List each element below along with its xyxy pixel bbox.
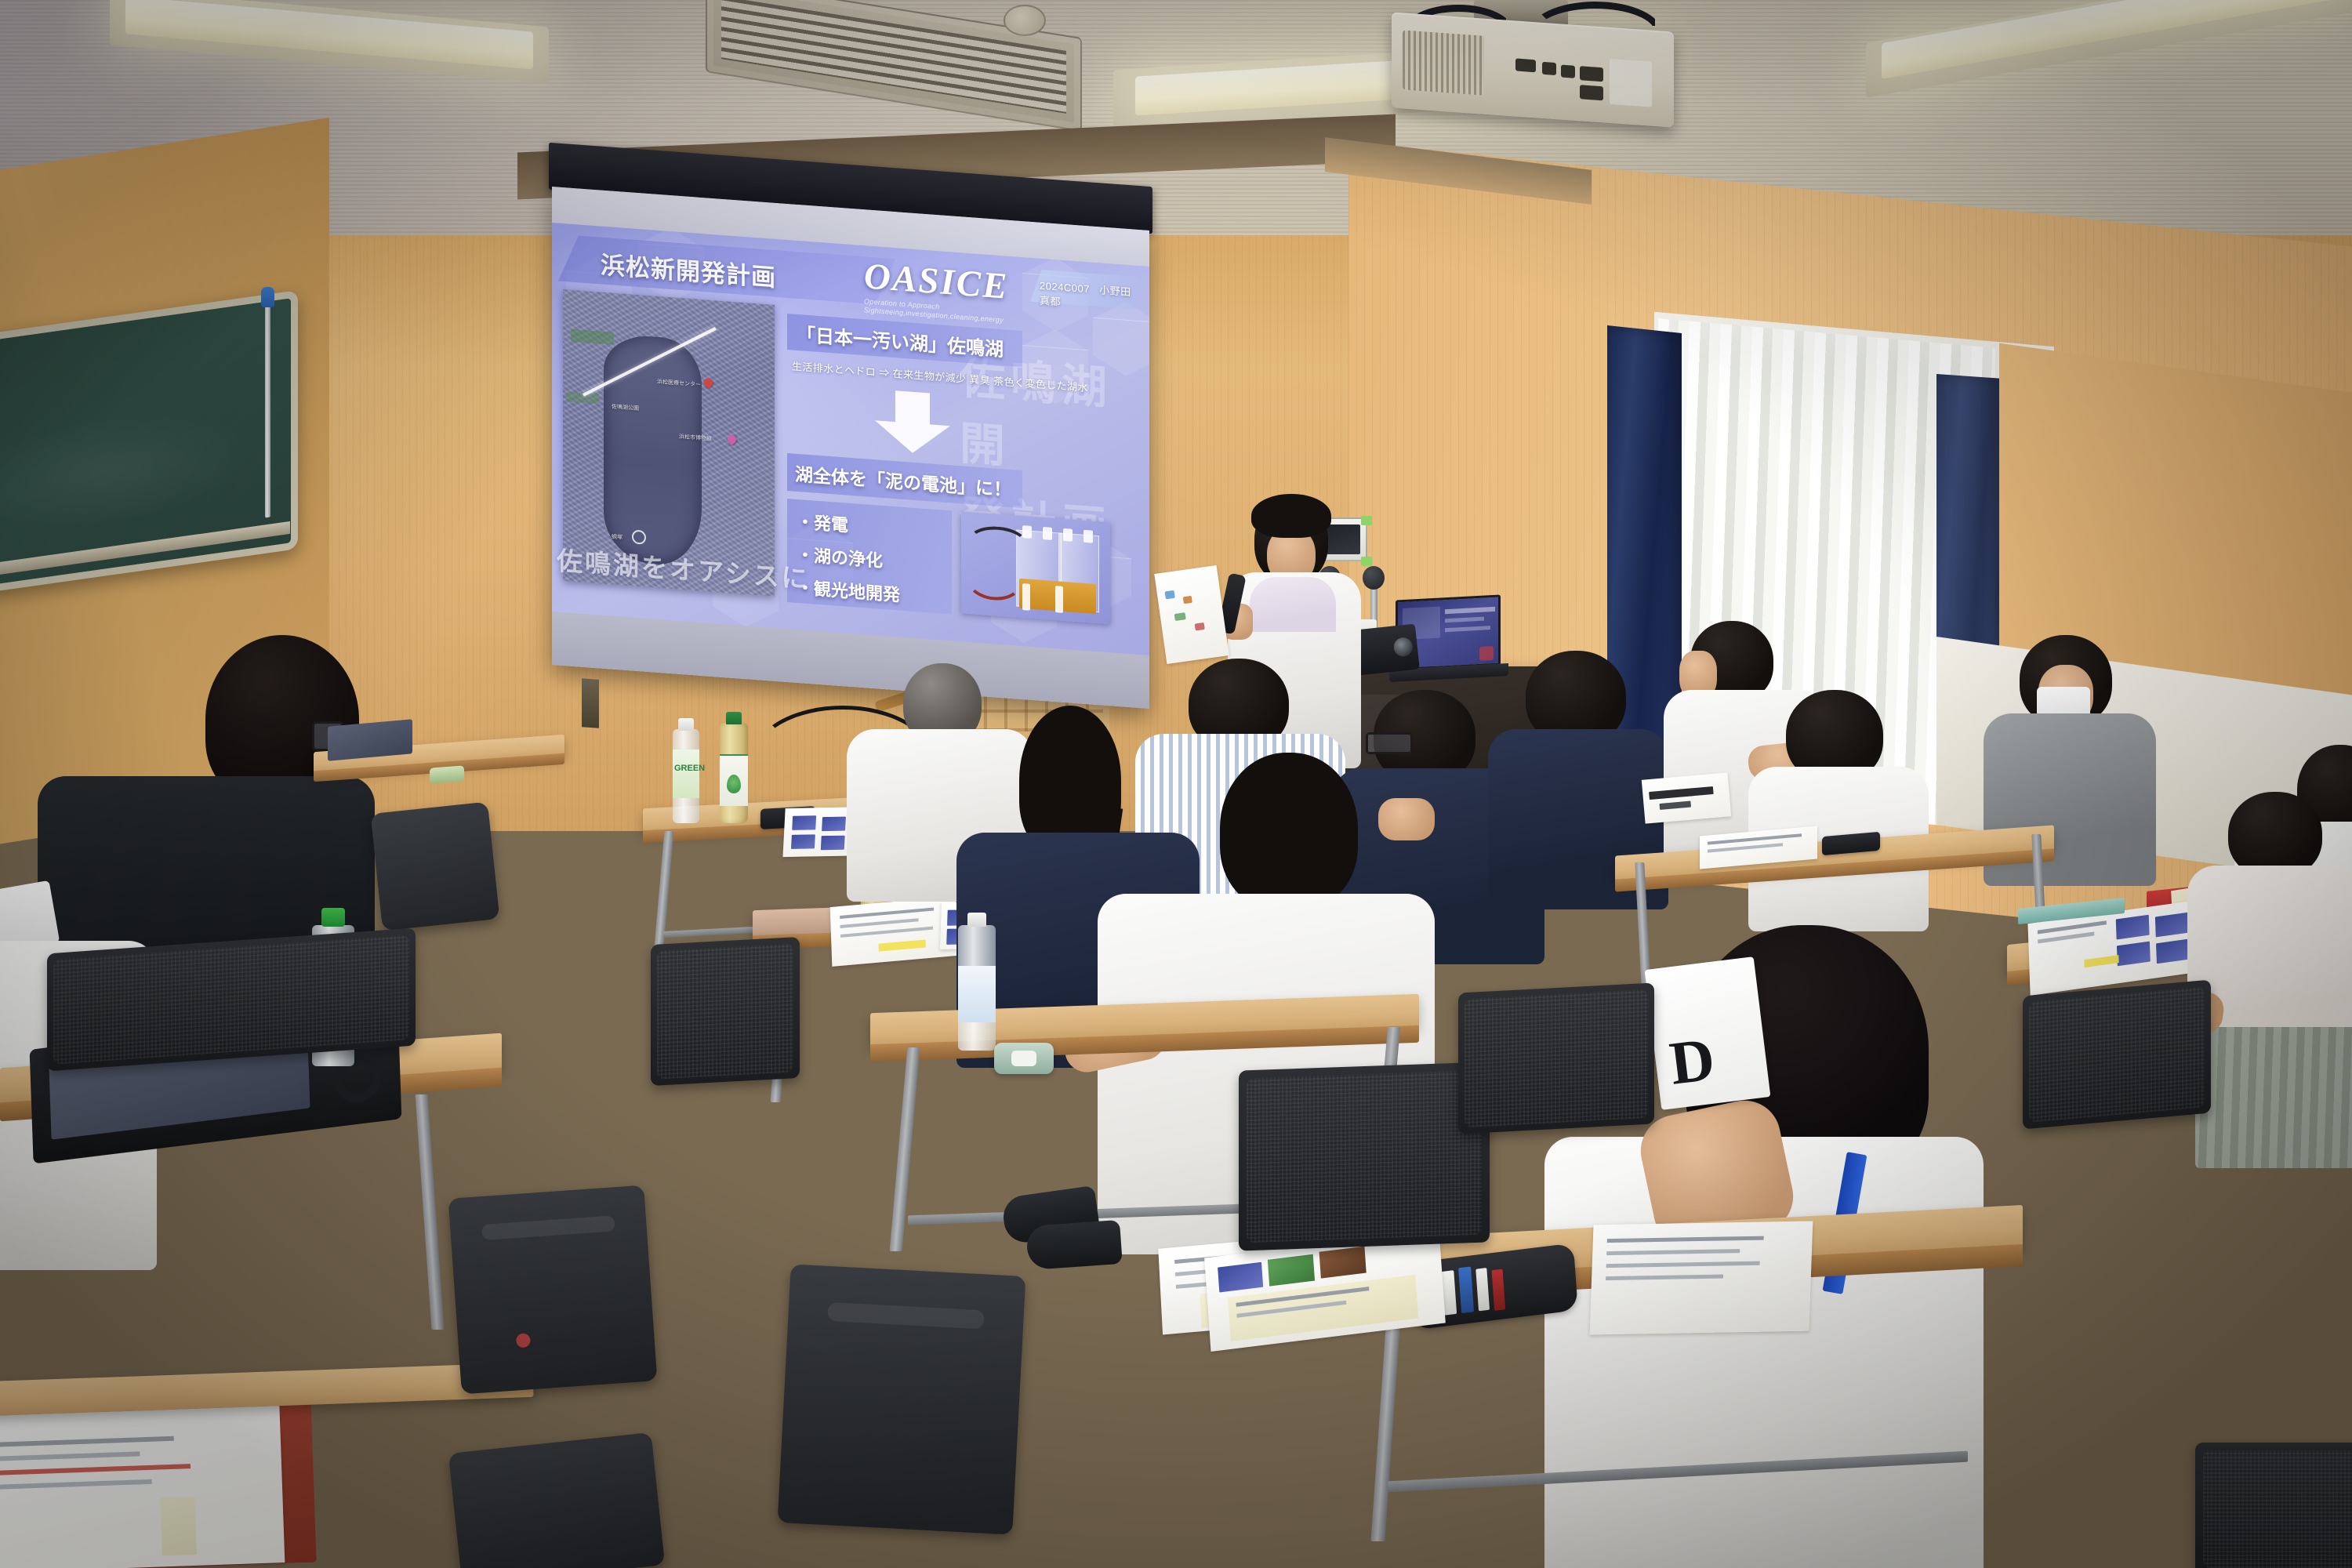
projected-slide: 佐鳴湖開 発計画 浜松新開発計画 OASICE Operation to App… xyxy=(552,223,1149,655)
chair-midleft[interactable] xyxy=(651,937,800,1086)
backpack-left-back xyxy=(371,802,500,931)
water-bottle-frontcenter xyxy=(958,925,996,1051)
bottle-tea-1 xyxy=(720,723,748,823)
bottle-green-brand: GREEN xyxy=(673,729,699,823)
slide-experiment-diagram: 泥の電池 実験装置 xyxy=(961,511,1110,624)
desk-leg xyxy=(416,1094,445,1330)
slide-author-id: 2024C007 xyxy=(1040,280,1090,296)
group-badge-card: D xyxy=(1645,956,1771,1110)
backpack-floor-center xyxy=(778,1264,1026,1534)
participant-skirt-blouse xyxy=(2195,1027,2352,1168)
presenter-hair xyxy=(1251,494,1331,538)
backpack-floor-left xyxy=(448,1185,658,1395)
slide-diagram-caption: 泥の電池 実験装置 xyxy=(961,511,962,512)
name-card xyxy=(1642,772,1731,823)
shoe-right xyxy=(1025,1220,1123,1270)
slide-headline: 「日本一汚い湖」佐鳴湖 xyxy=(787,318,1004,361)
chair-midright[interactable] xyxy=(1458,982,1654,1134)
slide-down-arrow-icon xyxy=(869,389,956,456)
chair-frontright[interactable] xyxy=(2195,1443,2352,1568)
pointer-stick[interactable] xyxy=(265,290,270,518)
classroom-scene: 佐鳴湖開 発計画 浜松新開発計画 OASICE Operation to App… xyxy=(0,0,2352,1568)
presenter-script xyxy=(1154,565,1229,664)
microphone-head-2 xyxy=(1363,566,1385,590)
bottle-label-text: GREEN xyxy=(674,764,698,773)
slide-map-poi-3: 蜆塚 xyxy=(612,533,622,542)
presenter-collar xyxy=(1250,577,1336,632)
bag-floor-left-2 xyxy=(448,1432,665,1568)
group-badge-letter: D xyxy=(1667,1026,1733,1098)
pointer-stick-tip xyxy=(261,287,274,307)
small-case-frontcenter xyxy=(994,1043,1054,1074)
chair-frontcenter[interactable] xyxy=(1239,1062,1490,1250)
document-frontright xyxy=(1590,1221,1813,1334)
slide-bullet-list: ・発電 ・湖の浄化 ・観光地開発 xyxy=(787,499,952,614)
participant-hair-whitetop xyxy=(1220,753,1358,909)
bottle-cap-green-left xyxy=(321,908,345,927)
slide-map-lake xyxy=(604,333,702,568)
diagram-wire-red xyxy=(966,557,1022,602)
slide-project-block: OASICE Operation to Approach Sightseeing… xyxy=(864,255,1044,328)
eyeglasses[interactable] xyxy=(1366,732,1413,754)
participant-hands-glasses xyxy=(1378,798,1435,840)
slide-map-marker-circle xyxy=(632,529,646,544)
screen-support xyxy=(582,678,599,728)
chair-rightback[interactable] xyxy=(2023,980,2211,1130)
projection-screen: 佐鳴湖開 発計画 浜松新開発計画 OASICE Operation to App… xyxy=(552,187,1149,709)
small-green-item xyxy=(430,765,464,783)
form-stack xyxy=(0,1406,285,1568)
evaluation-form-mid xyxy=(830,896,958,967)
ceiling-speaker-left xyxy=(1004,5,1046,36)
ceiling-projector xyxy=(1392,12,1674,127)
